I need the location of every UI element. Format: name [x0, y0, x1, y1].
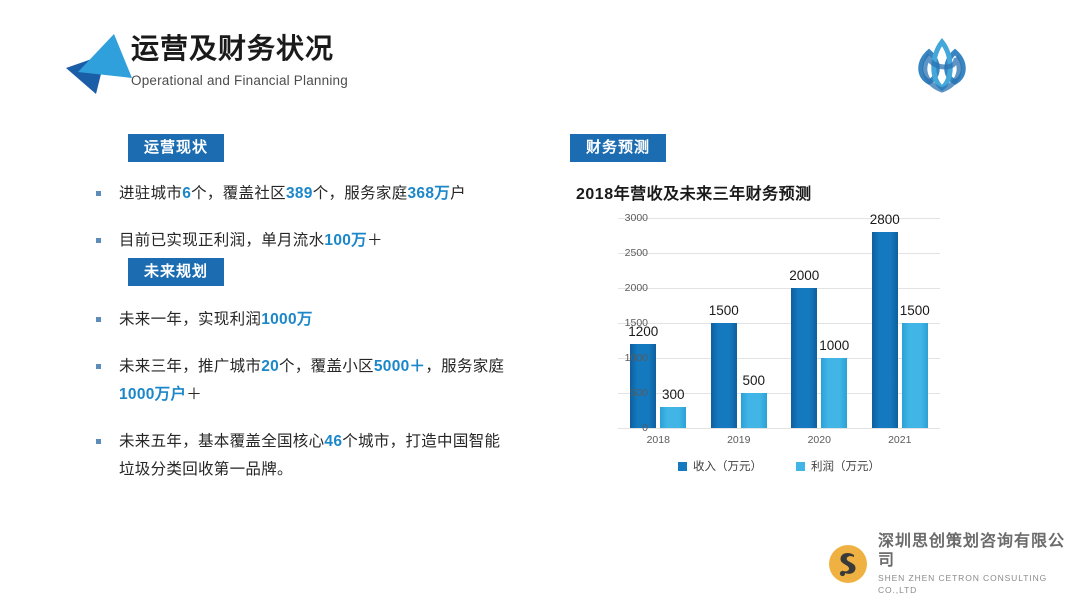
bar-value-label: 2000: [789, 268, 819, 283]
plain-text: 目前已实现正利润，单月流水: [119, 232, 324, 249]
chart-gridline: [618, 428, 940, 429]
bar-value-label: 1500: [900, 303, 930, 318]
bullet-marker-icon: [96, 317, 101, 322]
slide-root: 运营及财务状况 Operational and Financial Planni…: [0, 0, 1080, 608]
bullet-list-future: 未来一年，实现利润1000万未来三年，推广城市20个，覆盖小区5000＋，服务家…: [96, 306, 516, 503]
x-axis-ticks: 2018201920202021: [618, 434, 940, 446]
bar-profit[interactable]: 1500: [902, 323, 928, 428]
legend-swatch-icon: [796, 462, 805, 471]
plain-text: ＋: [367, 232, 383, 249]
y-axis-tick-label: 1000: [625, 352, 648, 364]
left-content-panel: 运营现状 进驻城市6个，覆盖社区389个，服务家庭368万户目前已实现正利润，单…: [0, 118, 540, 538]
highlight-value: 1000万: [261, 311, 312, 328]
legend-label: 利润（万元）: [811, 458, 880, 474]
bar-revenue[interactable]: 2000: [791, 288, 817, 428]
plain-text: 个，服务家庭: [313, 185, 408, 202]
bar-profit[interactable]: 300: [660, 407, 686, 428]
page-subtitle: Operational and Financial Planning: [131, 71, 348, 91]
plain-text: 未来一年，实现利润: [119, 311, 261, 328]
plain-text: 未来五年，基本覆盖全国核心: [119, 433, 324, 450]
highlight-value: 46: [324, 433, 342, 450]
y-axis-tick-label: 3000: [625, 212, 648, 224]
bullet-item: 进驻城市6个，覆盖社区389个，服务家庭368万户: [96, 180, 516, 208]
legend-swatch-icon: [678, 462, 687, 471]
bar-group: 28001500: [860, 218, 941, 428]
bullet-marker-icon: [96, 191, 101, 196]
footer-company-text: 深圳思创策划咨询有限公司 SHEN ZHEN CETRON CONSULTING…: [878, 532, 1080, 596]
right-chart-panel: 财务预测 2018年营收及未来三年财务预测 120030015005002000…: [540, 118, 1080, 518]
plain-text: 户: [450, 185, 466, 202]
bullet-text: 未来五年，基本覆盖全国核心46个城市，打造中国智能垃圾分类回收第一品牌。: [119, 428, 516, 484]
company-name-en: SHEN ZHEN CETRON CONSULTING CO.,LTD: [878, 572, 1080, 596]
bullet-marker-icon: [96, 439, 101, 444]
bullet-item: 未来五年，基本覆盖全国核心46个城市，打造中国智能垃圾分类回收第一品牌。: [96, 428, 516, 484]
financial-forecast-chart: 120030015005002000100028001500 050010001…: [560, 210, 980, 560]
plain-text: ，服务家庭: [425, 358, 504, 375]
highlight-value: 100万: [324, 232, 367, 249]
bar-group: 20001000: [779, 218, 860, 428]
x-axis-tick-label: 2018: [618, 434, 699, 446]
highlight-value: 389: [286, 185, 313, 202]
bar-group: 1500500: [699, 218, 780, 428]
bullet-item: 目前已实现正利润，单月流水100万＋: [96, 227, 516, 255]
bar-revenue[interactable]: 2800: [872, 232, 898, 428]
x-axis-tick-label: 2021: [860, 434, 941, 446]
bullet-text: 目前已实现正利润，单月流水100万＋: [119, 227, 383, 255]
highlight-value: 1000万户: [119, 386, 186, 403]
bar-profit[interactable]: 1000: [821, 358, 847, 428]
cetron-s-logo-icon: [828, 544, 868, 584]
x-axis-tick-label: 2020: [779, 434, 860, 446]
bar-revenue[interactable]: 1500: [711, 323, 737, 428]
legend-item[interactable]: 收入（万元）: [678, 458, 762, 474]
badge-label: 运营现状: [128, 134, 224, 162]
plain-text: 未来三年，推广城市: [119, 358, 261, 375]
bullet-text: 未来三年，推广城市20个，覆盖小区5000＋，服务家庭1000万户＋: [119, 353, 516, 409]
highlight-value: 20: [261, 358, 279, 375]
bullet-text: 进驻城市6个，覆盖社区389个，服务家庭368万户: [119, 180, 466, 208]
plain-text: 个，覆盖社区: [191, 185, 286, 202]
title-block: 运营及财务状况 Operational and Financial Planni…: [131, 30, 348, 91]
plain-text: ＋: [186, 386, 202, 403]
bar-value-label: 500: [742, 373, 765, 388]
bullet-marker-icon: [96, 238, 101, 243]
y-axis-tick-label: 500: [630, 387, 648, 399]
badge-operational-status: 运营现状: [128, 134, 224, 162]
highlight-value: 368万: [408, 185, 451, 202]
bullet-text: 未来一年，实现利润1000万: [119, 306, 313, 334]
bullet-marker-icon: [96, 364, 101, 369]
x-axis-tick-label: 2019: [699, 434, 780, 446]
legend-item[interactable]: 利润（万元）: [796, 458, 880, 474]
page-title: 运营及财务状况: [131, 30, 348, 68]
highlight-value: 5000＋: [374, 358, 425, 375]
water-drop-logo-icon: [908, 32, 976, 96]
plain-text: 个，覆盖小区: [279, 358, 374, 375]
bar-value-label: 300: [662, 387, 685, 402]
y-axis-tick-label: 2500: [625, 247, 648, 259]
badge-future-plan: 未来规划: [128, 258, 224, 286]
y-axis-tick-label: 1500: [625, 317, 648, 329]
bar-value-label: 1500: [709, 303, 739, 318]
bar-profit[interactable]: 500: [741, 393, 767, 428]
plain-text: 进驻城市: [119, 185, 182, 202]
badge-label: 财务预测: [570, 134, 666, 162]
y-axis-tick-label: 2000: [625, 282, 648, 294]
y-axis-tick-label: 0: [642, 422, 648, 434]
chart-title: 2018年营收及未来三年财务预测: [576, 180, 812, 204]
legend-label: 收入（万元）: [693, 458, 762, 474]
badge-financial-forecast: 财务预测: [570, 134, 666, 162]
bar-value-label: 2800: [870, 212, 900, 227]
chart-legend: 收入（万元）利润（万元）: [618, 458, 940, 474]
company-name-cn: 深圳思创策划咨询有限公司: [878, 532, 1080, 570]
bar-value-label: 1000: [819, 338, 849, 353]
bullet-item: 未来一年，实现利润1000万: [96, 306, 516, 334]
highlight-value: 6: [182, 185, 191, 202]
chart-plot-area: 120030015005002000100028001500: [618, 218, 940, 428]
triangle-arrow-logo-icon: [62, 28, 136, 100]
slide-header: 运营及财务状况 Operational and Financial Planni…: [0, 0, 1080, 118]
bar-groups: 120030015005002000100028001500: [618, 218, 940, 428]
badge-label: 未来规划: [128, 258, 224, 286]
bullet-item: 未来三年，推广城市20个，覆盖小区5000＋，服务家庭1000万户＋: [96, 353, 516, 409]
footer-watermark: 深圳思创策划咨询有限公司 SHEN ZHEN CETRON CONSULTING…: [828, 532, 1080, 596]
